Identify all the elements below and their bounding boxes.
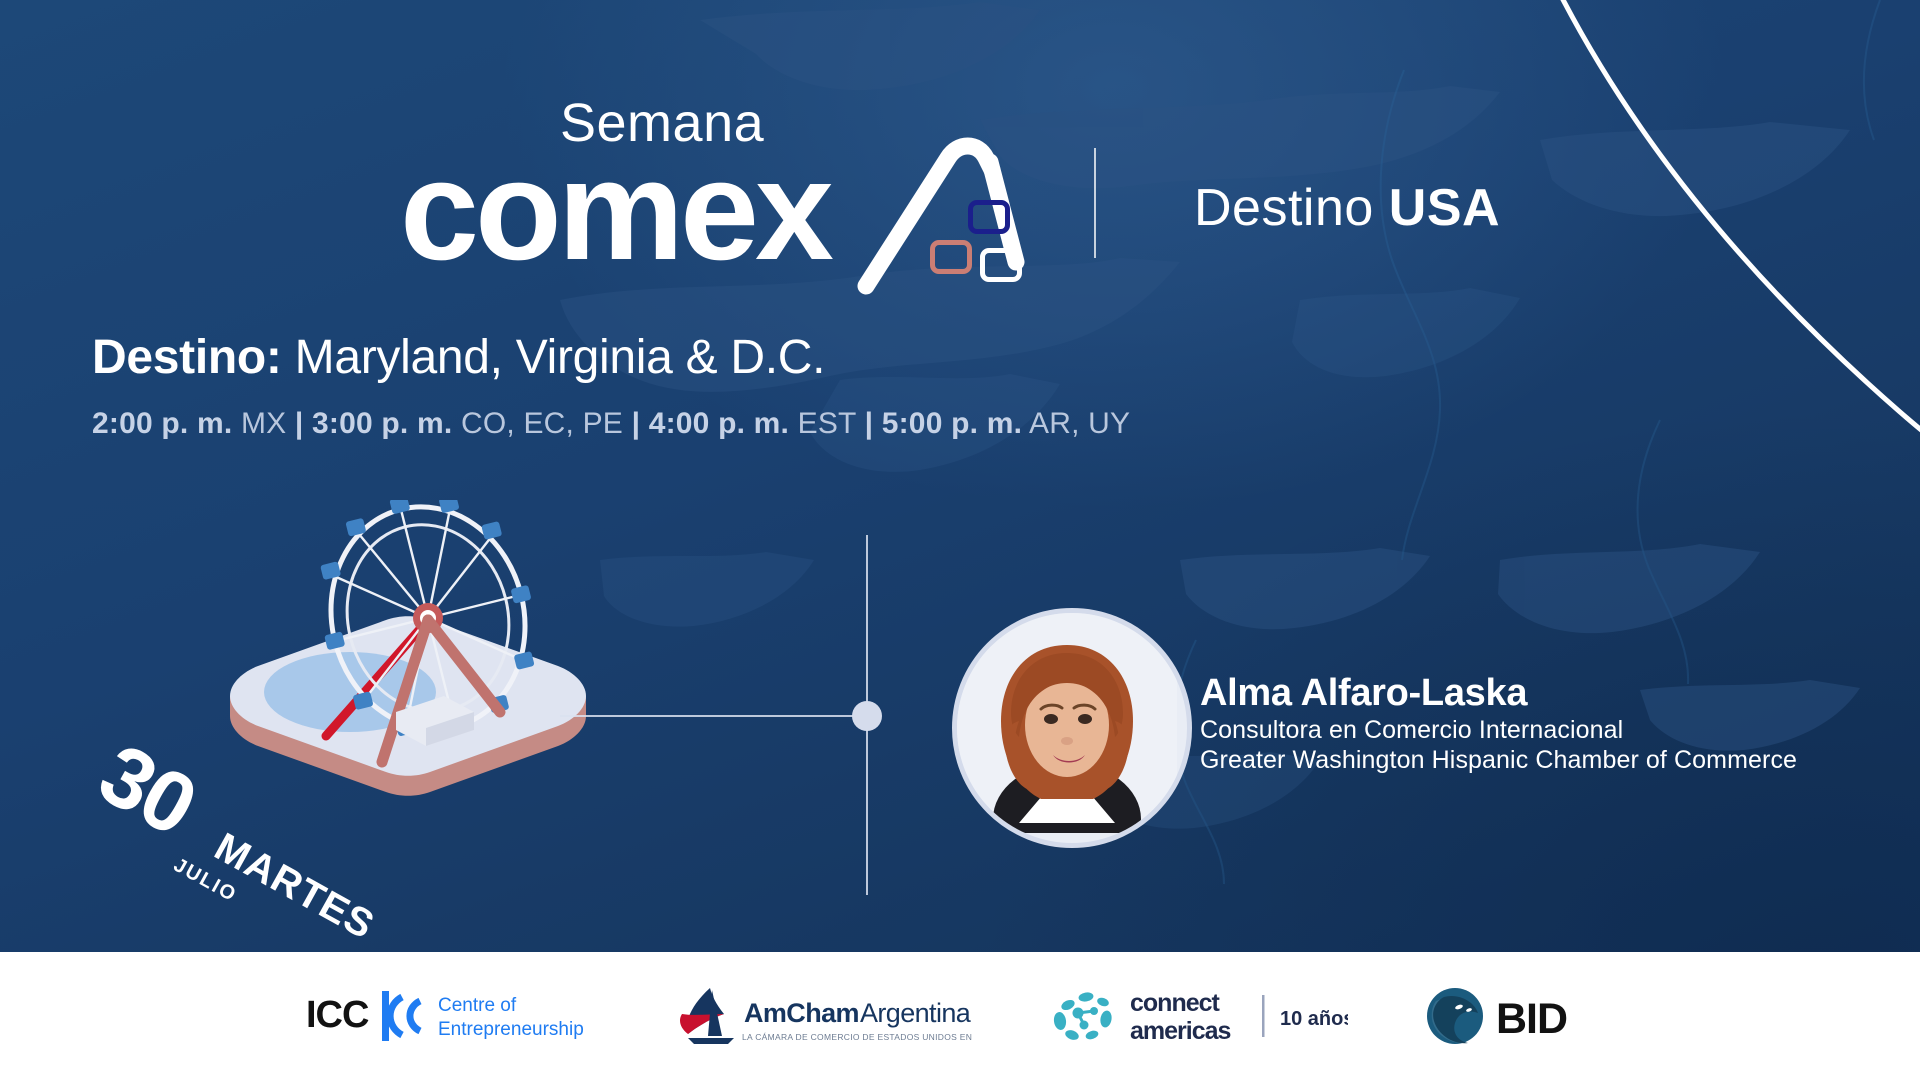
- header-divider: [1094, 148, 1096, 258]
- logo-amcham[interactable]: AmCham Argentina LA CÁMARA DE COMERCIO D…: [672, 980, 972, 1052]
- speaker-role: Consultora en Comercio Internacional: [1200, 715, 1797, 746]
- svg-text:ICC: ICC: [306, 994, 369, 1036]
- logo-icc[interactable]: ICC Centre of Entrepreneurship: [306, 985, 596, 1047]
- destino-usa-title: Destino USA: [1194, 178, 1500, 238]
- logo-bid[interactable]: BID: [1424, 985, 1614, 1047]
- zones-0: MX: [241, 407, 286, 440]
- destination-line: Destino: Maryland, Virginia & D.C.: [92, 330, 825, 385]
- speaker-avatar: [952, 608, 1192, 848]
- time-separator-1: |: [632, 407, 641, 440]
- svg-text:Argentina: Argentina: [860, 998, 972, 1028]
- bid-acronym: BID: [1496, 995, 1567, 1043]
- zones-3: AR, UY: [1029, 407, 1130, 440]
- connect-line1: connect: [1130, 989, 1221, 1017]
- zones-1: CO, EC, PE: [461, 407, 623, 440]
- time-separator-0: |: [295, 407, 304, 440]
- destino-prefix: Destino: [1194, 179, 1374, 237]
- time-0: 2:00 p. m.: [92, 407, 232, 440]
- time-1: 3:00 p. m.: [312, 407, 452, 440]
- svg-text:AmCham: AmCham: [744, 998, 859, 1028]
- amcham-tagline: LA CÁMARA DE COMERCIO DE ESTADOS UNIDOS …: [742, 1032, 972, 1042]
- time-3: 5:00 p. m.: [882, 407, 1022, 440]
- poster-canvas: Semana comex Destino USA Destino: Maryla…: [0, 0, 1920, 1080]
- accent-square-white: [980, 248, 1022, 282]
- speaker-info: Alma Alfaro-Laska Consultora en Comercio…: [1200, 672, 1797, 776]
- connect-anniversary: 10 años: [1280, 1008, 1348, 1030]
- sponsor-footer: ICC Centre of Entrepreneurship AmCham Ar…: [0, 952, 1920, 1080]
- speaker-organization: Greater Washington Hispanic Chamber of C…: [1200, 745, 1797, 776]
- ferris-wheel-illustration: [200, 500, 600, 800]
- timezone-line: 2:00 p. m. MX | 3:00 p. m. CO, EC, PE | …: [92, 407, 1130, 441]
- connector-horizontal-line: [560, 715, 868, 717]
- accent-square-navy: [968, 200, 1010, 234]
- logo-connectamericas[interactable]: connect americas 10 años: [1048, 983, 1348, 1049]
- accent-square-coral: [930, 240, 972, 274]
- destination-label: Destino:: [92, 331, 282, 384]
- destination-value: Maryland, Virginia & D.C.: [295, 331, 826, 384]
- connector-node-dot: [852, 701, 882, 731]
- connect-line2: americas: [1130, 1017, 1231, 1045]
- time-separator-2: |: [865, 407, 874, 440]
- zones-2: EST: [798, 407, 856, 440]
- destino-country: USA: [1389, 179, 1500, 237]
- icc-line2: Entrepreneurship: [438, 1019, 584, 1040]
- comex-wordmark: comex: [400, 140, 830, 282]
- speaker-name: Alma Alfaro-Laska: [1200, 672, 1797, 715]
- time-2: 4:00 p. m.: [649, 407, 789, 440]
- icc-line1: Centre of: [438, 995, 517, 1016]
